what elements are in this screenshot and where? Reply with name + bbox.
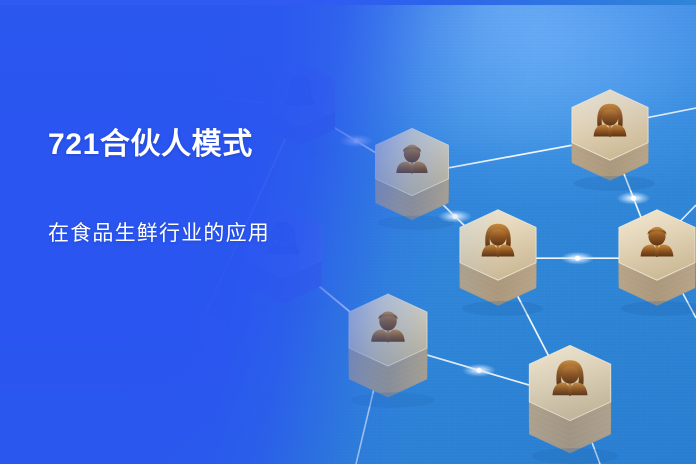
page-subtitle: 在食品生鲜行业的应用: [48, 164, 298, 251]
headline-block: 721合伙人模式 在食品生鲜行业的应用: [48, 126, 298, 251]
top-accent-strip: [0, 0, 696, 5]
page-title: 721合伙人模式: [48, 126, 298, 164]
promo-banner: 721合伙人模式 在食品生鲜行业的应用: [0, 0, 696, 464]
